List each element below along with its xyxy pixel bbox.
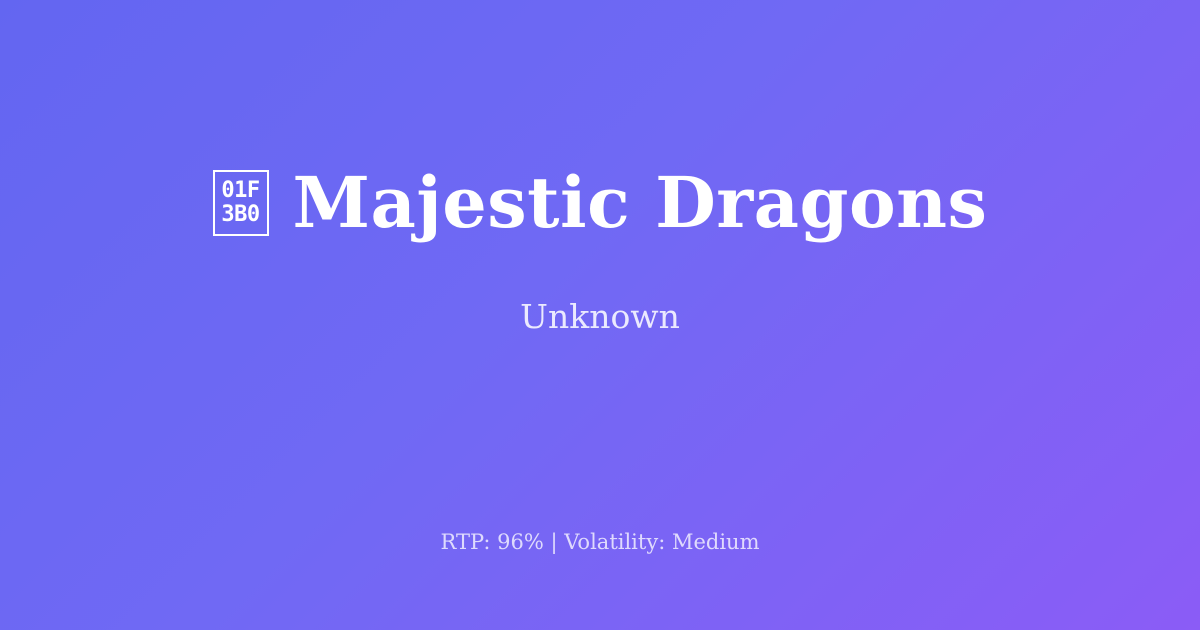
card-subtitle: Unknown bbox=[520, 300, 680, 333]
card-hero: 01F 3B0 Majestic Dragons Unknown bbox=[0, 0, 1200, 500]
page-title: Majestic Dragons bbox=[293, 168, 988, 238]
slot-machine-icon-codepoint-bottom: 3B0 bbox=[221, 203, 259, 226]
slot-machine-icon: 01F 3B0 bbox=[213, 170, 269, 236]
title-row: 01F 3B0 Majestic Dragons bbox=[213, 168, 988, 238]
card-meta-stats: RTP: 96% | Volatility: Medium bbox=[0, 528, 1200, 557]
slot-machine-icon-codepoint-top: 01F bbox=[221, 179, 259, 202]
game-promo-card: 01F 3B0 Majestic Dragons Unknown RTP: 96… bbox=[0, 0, 1200, 630]
